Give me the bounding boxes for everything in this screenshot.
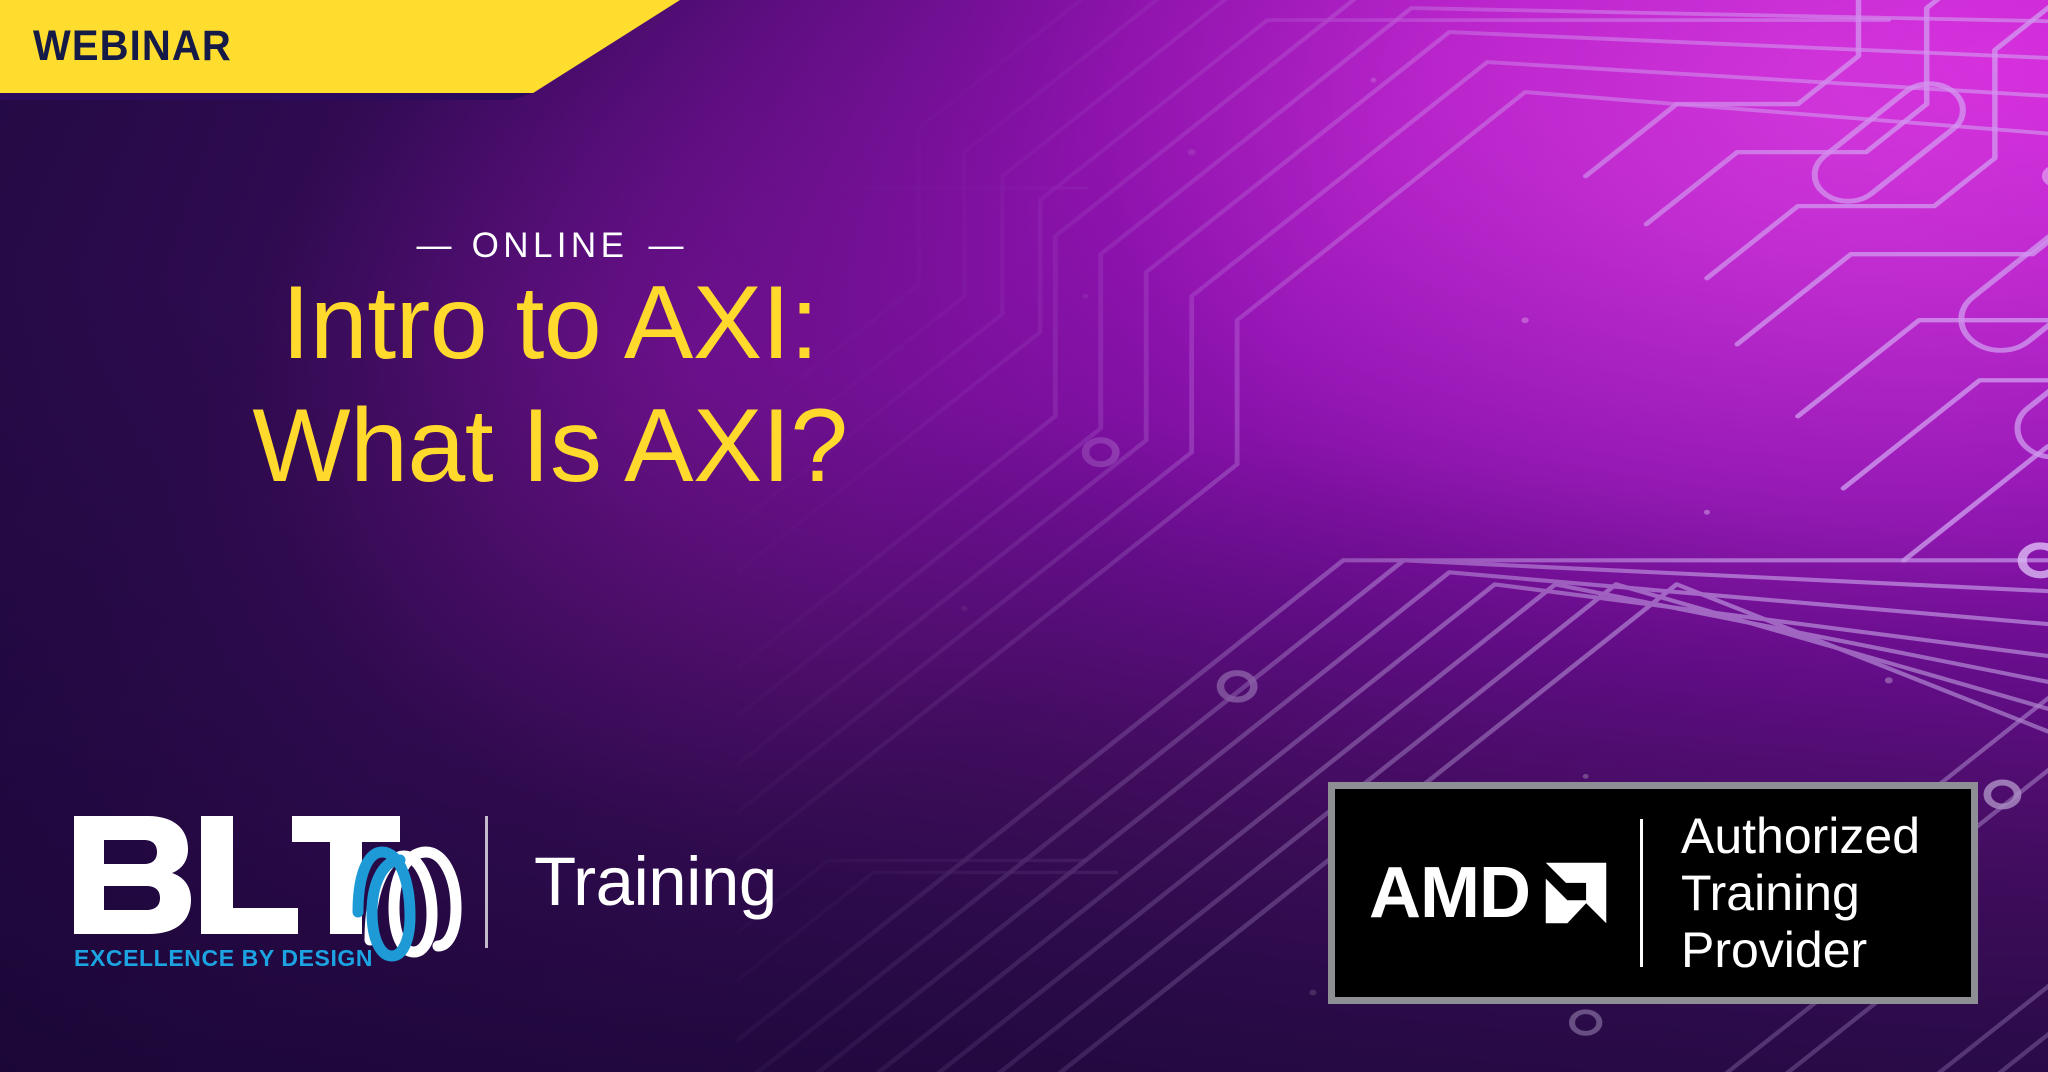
- webinar-banner-underline: [0, 93, 533, 100]
- webinar-label: WEBINAR: [33, 22, 232, 71]
- webinar-promo-banner: WEBINAR — ONLINE — Intro to AXI: What Is…: [0, 0, 2048, 1072]
- lockup-product-label: Training: [534, 842, 777, 921]
- amd-authorized-training-provider-badge: AMD Authorized Training Provider: [1328, 782, 1978, 1004]
- eyebrow-dash-left: —: [411, 226, 458, 265]
- amd-badge-line-3: Provider: [1681, 922, 1920, 979]
- brand-lockup: EXCELLENCE BY DESIGN Training: [70, 812, 777, 974]
- amd-badge-text: Authorized Training Provider: [1643, 808, 1920, 979]
- title-line-1: Intro to AXI:: [0, 262, 1100, 385]
- amd-badge-line-1: Authorized: [1681, 808, 1920, 865]
- amd-arrow-icon: [1540, 857, 1612, 929]
- blt-logo: EXCELLENCE BY DESIGN: [70, 812, 465, 974]
- blt-tagline: EXCELLENCE BY DESIGN: [74, 945, 373, 971]
- amd-wordmark: AMD: [1369, 857, 1530, 929]
- eyebrow-dash-right: —: [642, 226, 689, 265]
- amd-badge-line-2: Training: [1681, 865, 1920, 922]
- event-format-eyebrow: — ONLINE —: [0, 226, 1100, 266]
- page-title: Intro to AXI: What Is AXI?: [0, 262, 1100, 507]
- eyebrow-label: ONLINE: [472, 226, 629, 265]
- amd-logo: AMD: [1335, 857, 1640, 929]
- lockup-divider: [485, 816, 488, 948]
- title-line-2: What Is AXI?: [0, 385, 1100, 508]
